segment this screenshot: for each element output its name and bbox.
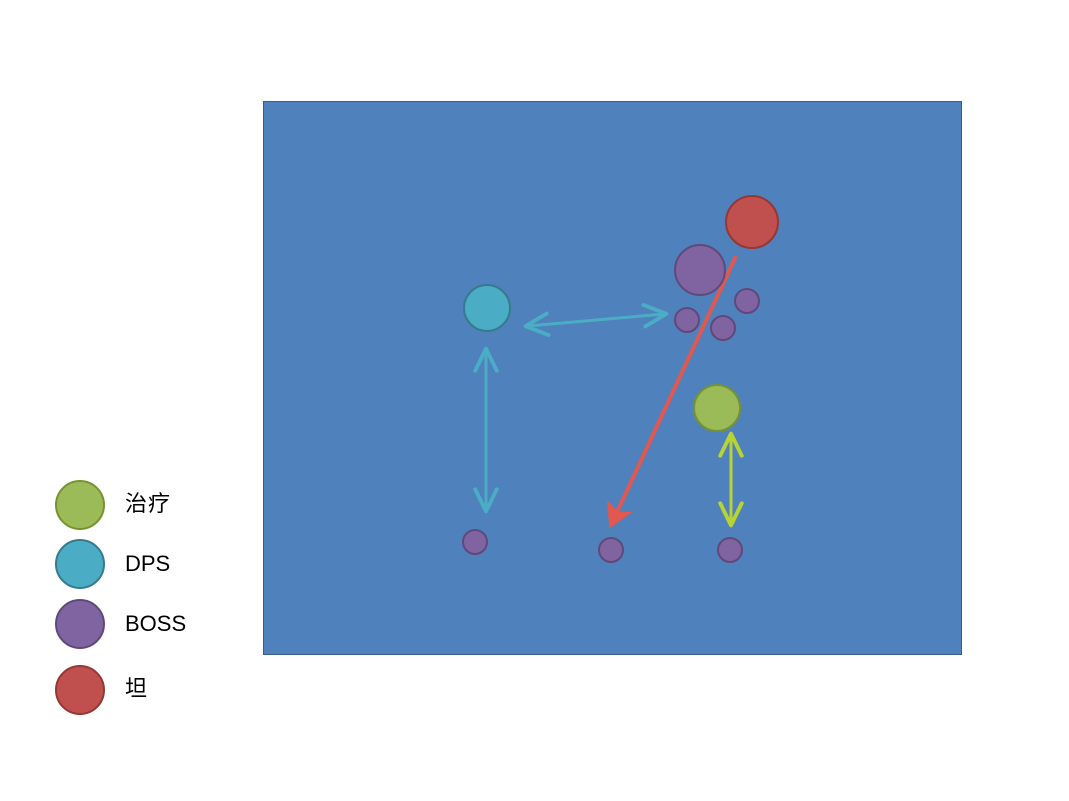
marker-token-mid[interactable] [598, 537, 624, 563]
role-legend: 治疗 DPS BOSS 坦 [55, 470, 255, 720]
diagram-page: 治疗 DPS BOSS 坦 [0, 0, 1069, 801]
legend-item-healer[interactable]: 治疗 [55, 479, 255, 531]
legend-label-boss: BOSS [125, 613, 186, 635]
tank-swatch-icon [55, 665, 105, 715]
marker-token-left[interactable] [462, 529, 488, 555]
healer-token[interactable] [693, 384, 741, 432]
legend-label-tank: 坦 [125, 679, 148, 701]
arena-arrow-layer [264, 102, 963, 656]
boss-swatch-icon [55, 599, 105, 649]
tank-token[interactable] [725, 195, 779, 249]
dps-swatch-icon [55, 539, 105, 589]
encounter-arena [263, 101, 962, 655]
add-token-left[interactable] [674, 307, 700, 333]
healer-swatch-icon [55, 480, 105, 530]
legend-label-healer: 治疗 [125, 494, 171, 516]
legend-label-dps: DPS [125, 553, 170, 575]
add-token-mid[interactable] [710, 315, 736, 341]
boss-token[interactable] [674, 244, 726, 296]
marker-token-right[interactable] [717, 537, 743, 563]
legend-item-boss[interactable]: BOSS [55, 598, 255, 650]
add-token-upper[interactable] [734, 288, 760, 314]
legend-item-dps[interactable]: DPS [55, 538, 255, 590]
dps-horizontal-arrow [528, 314, 664, 326]
legend-item-tank[interactable]: 坦 [55, 664, 255, 716]
dps-token[interactable] [463, 284, 511, 332]
